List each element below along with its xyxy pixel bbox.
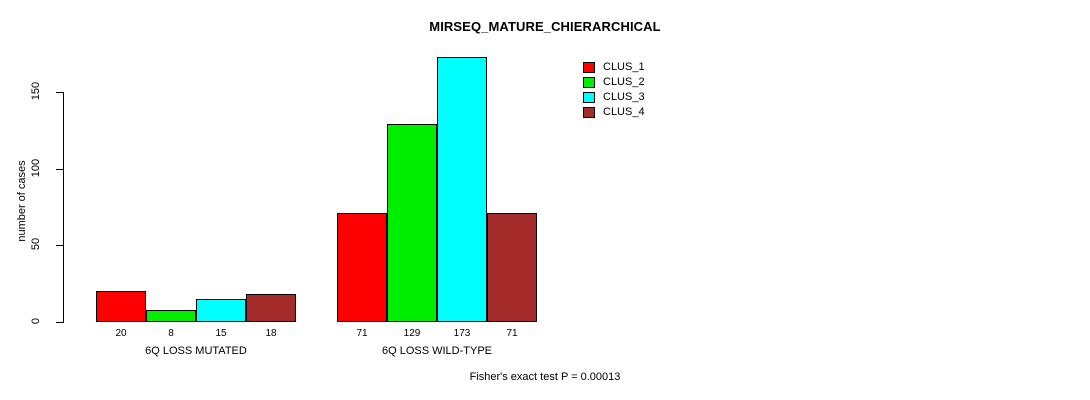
legend-color-swatch (583, 107, 595, 118)
y-axis-title: number of cases (16, 141, 28, 261)
y-axis-tick-label: 100 (30, 153, 42, 183)
legend-item-label: CLUS_4 (603, 106, 645, 118)
bar-value-label: 71 (487, 328, 537, 339)
group-axis-label: 6Q LOSS MUTATED (96, 345, 296, 357)
legend-item-label: CLUS_1 (603, 61, 645, 73)
bar (96, 291, 146, 322)
bar-value-label: 18 (246, 328, 296, 339)
bar (246, 294, 296, 322)
y-axis-tick (56, 322, 63, 323)
bar (146, 310, 196, 322)
y-axis-line (63, 92, 64, 323)
bar (196, 299, 246, 322)
group-axis-label: 6Q LOSS WILD-TYPE (337, 345, 537, 357)
bar-value-label: 129 (387, 328, 437, 339)
y-axis-tick (56, 245, 63, 246)
y-axis-tick (56, 169, 63, 170)
legend-color-swatch (583, 62, 595, 73)
legend-item-label: CLUS_2 (603, 76, 645, 88)
bar (437, 57, 487, 322)
bar-value-label: 173 (437, 328, 487, 339)
bar (337, 213, 387, 322)
bar-value-label: 15 (196, 328, 246, 339)
y-axis-tick-label: 150 (30, 76, 42, 106)
bar (487, 213, 537, 322)
bar-value-label: 20 (96, 328, 146, 339)
bar (387, 124, 437, 322)
bar-value-label: 71 (337, 328, 387, 339)
fisher-test-annotation: Fisher's exact test P = 0.00013 (0, 371, 1090, 383)
bar-value-label: 8 (146, 328, 196, 339)
legend-item-label: CLUS_3 (603, 91, 645, 103)
y-axis-tick-label: 0 (30, 306, 42, 336)
y-axis-tick (56, 92, 63, 93)
legend-color-swatch (583, 77, 595, 88)
y-axis-tick-label: 50 (30, 229, 42, 259)
legend-color-swatch (583, 92, 595, 103)
chart-canvas: MIRSEQ_MATURE_CHIERARCHICAL 050100150 nu… (0, 0, 1090, 400)
plot-area: 050100150 number of cases 20815187112917… (0, 0, 1090, 400)
